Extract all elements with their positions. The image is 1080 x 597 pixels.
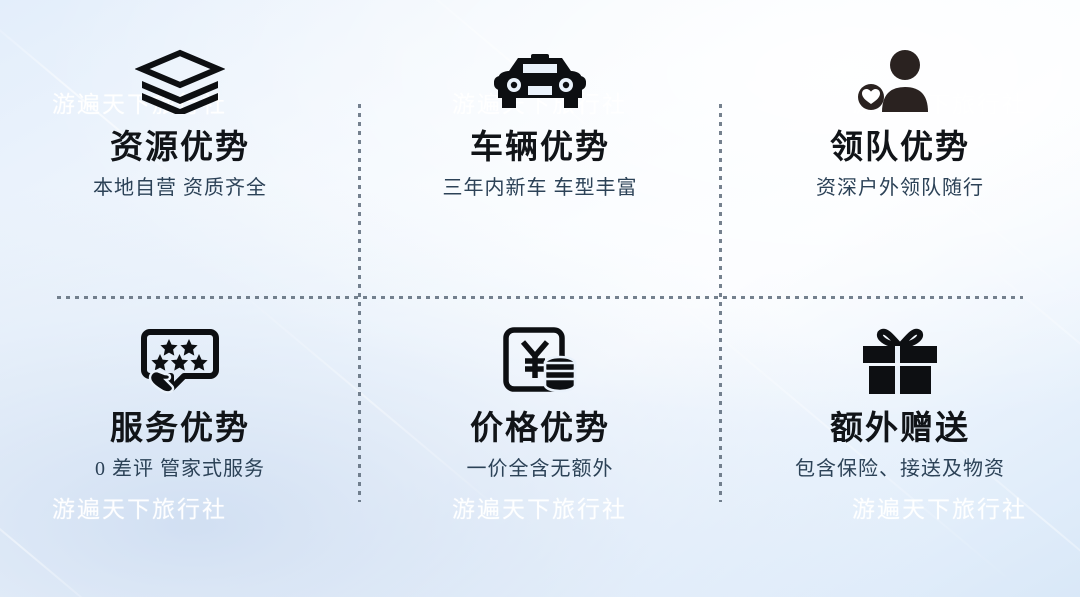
feature-title: 价格优势 — [470, 411, 610, 447]
feature-subtitle: 包含保险、接送及物资 — [795, 457, 1005, 481]
feature-card-price: 价格优势 一价全含无额外 — [360, 299, 720, 597]
feature-card-service: 服务优势 0 差评 管家式服务 — [0, 299, 360, 597]
feature-card-resource: 资源优势 本地自营 资质齐全 — [0, 0, 360, 299]
feature-title: 车辆优势 — [470, 130, 610, 166]
gift-icon — [857, 329, 943, 395]
feature-subtitle: 0 差评 管家式服务 — [95, 457, 265, 481]
feature-card-gift: 额外赠送 包含保险、接送及物资 — [720, 299, 1080, 597]
layers-icon — [135, 48, 225, 114]
feature-title: 领队优势 — [830, 130, 970, 166]
feature-card-leader: 领队优势 资深户外领队随行 — [720, 0, 1080, 299]
feature-subtitle: 一价全含无额外 — [467, 457, 614, 481]
feature-card-vehicle: 车辆优势 三年内新车 车型丰富 — [360, 0, 720, 299]
team-leader-icon — [857, 48, 943, 114]
feature-highlights-banner: 游遍天下旅行社 游遍天下旅行社 游遍天下旅行社 游遍天下旅行社 游遍天下旅行社 … — [0, 0, 1080, 597]
car-icon — [490, 48, 590, 114]
feature-title: 服务优势 — [110, 411, 250, 447]
feature-title: 额外赠送 — [830, 411, 970, 447]
feature-grid: 资源优势 本地自营 资质齐全 — [0, 0, 1080, 597]
feature-subtitle: 资深户外领队随行 — [816, 176, 984, 200]
feature-subtitle: 本地自营 资质齐全 — [93, 176, 267, 200]
feature-subtitle: 三年内新车 车型丰富 — [443, 176, 638, 200]
yuan-coins-icon — [502, 329, 578, 395]
feature-title: 资源优势 — [110, 130, 250, 166]
review-stars-icon — [141, 329, 219, 395]
